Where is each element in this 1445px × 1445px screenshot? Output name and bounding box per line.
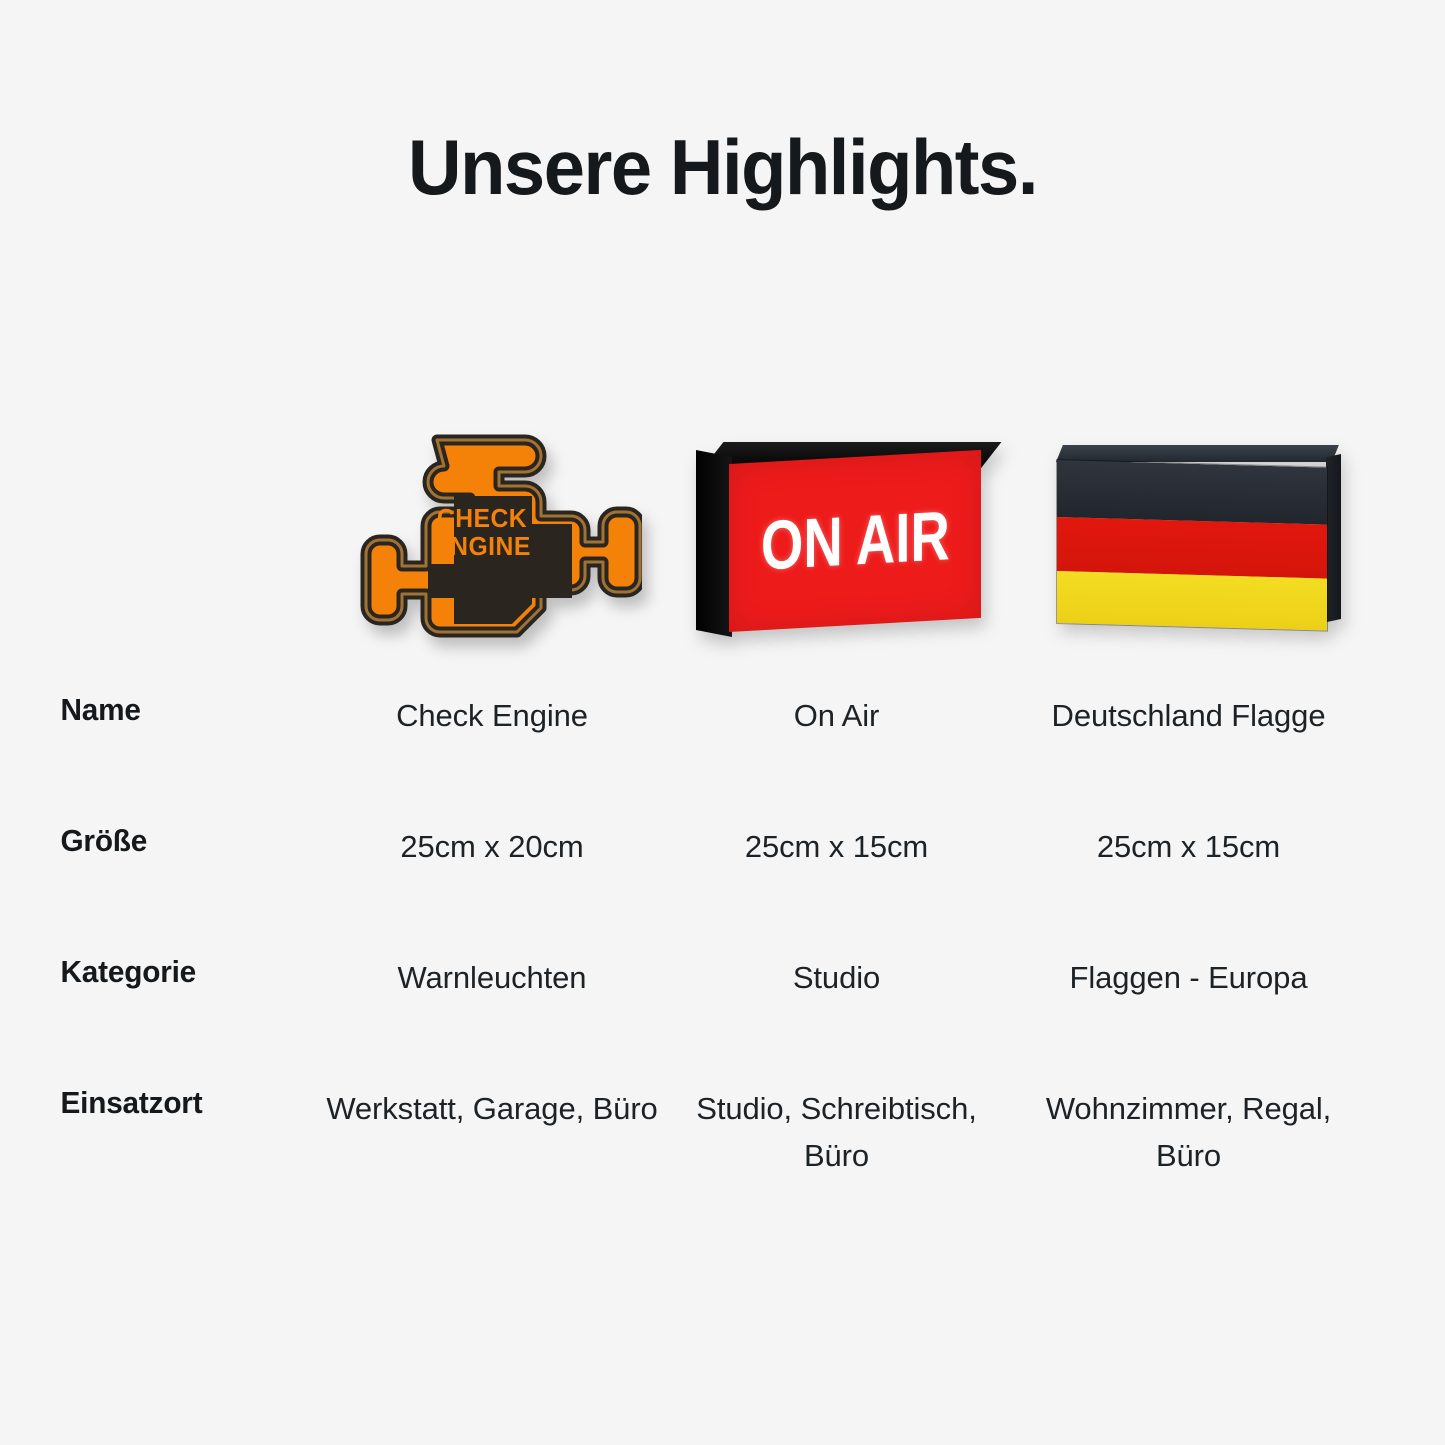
check-engine-lamp-graphic: CHECK ENGINE	[342, 430, 642, 645]
check-engine-label-line1: CHECK	[412, 504, 553, 532]
on-air-text: ON AIR	[761, 496, 950, 586]
row-label-einsatzort: Einsatzort	[0, 1085, 309, 1121]
row-label-kategorie: Kategorie	[0, 954, 309, 990]
cell-einsatzort-on-air: Studio, Schreibtisch, Büro	[662, 1085, 1011, 1179]
cell-kategorie-on-air: Studio	[662, 954, 1011, 1002]
cell-kategorie-check-engine: Warnleuchten	[322, 954, 662, 1002]
highlights-page: Unsere Highlights. CHECK ENGINE	[0, 0, 1445, 1445]
cell-name-on-air: On Air	[662, 692, 1011, 740]
flag-box-side-face	[1326, 454, 1341, 622]
product-image-row: CHECK ENGINE ON AIR	[0, 412, 1445, 662]
on-air-box-front-face: ON AIR	[729, 450, 981, 632]
row-label-groesse: Größe	[0, 823, 309, 859]
flag-box-front-face	[1056, 459, 1328, 632]
cell-groesse-deutschland-flagge: 25cm x 15cm	[1011, 823, 1366, 871]
cell-einsatzort-deutschland-flagge: Wohnzimmer, Regal, Büro	[1011, 1085, 1366, 1179]
on-air-lightbox-graphic: ON AIR	[696, 442, 986, 632]
table-row-groesse: Größe 25cm x 20cm 25cm x 15cm 25cm x 15c…	[0, 823, 1445, 954]
german-flag-lightbox-graphic	[1051, 445, 1341, 630]
flag-box-top-face	[1056, 445, 1339, 462]
cell-kategorie-deutschland-flagge: Flaggen - Europa	[1011, 954, 1366, 1002]
check-engine-label-line2: ENGINE	[412, 532, 553, 560]
flag-band-red	[1057, 517, 1327, 578]
table-row-kategorie: Kategorie Warnleuchten Studio Flaggen - …	[0, 954, 1445, 1085]
spec-comparison-table: Name Check Engine On Air Deutschland Fla…	[0, 692, 1445, 1216]
cell-groesse-check-engine: 25cm x 20cm	[322, 823, 662, 871]
product-image-on-air[interactable]: ON AIR	[671, 412, 1011, 662]
product-image-deutschland-flagge[interactable]	[1026, 412, 1366, 662]
cell-name-deutschland-flagge: Deutschland Flagge	[1011, 692, 1366, 740]
table-row-name: Name Check Engine On Air Deutschland Fla…	[0, 692, 1445, 823]
flag-band-yellow	[1057, 570, 1327, 630]
page-title: Unsere Highlights.	[36, 128, 1409, 206]
table-row-einsatzort: Einsatzort Werkstatt, Garage, Büro Studi…	[0, 1085, 1445, 1216]
flag-band-black	[1057, 460, 1327, 525]
row-label-name: Name	[0, 692, 309, 728]
cell-name-check-engine: Check Engine	[322, 692, 662, 740]
check-engine-label: CHECK ENGINE	[412, 504, 553, 560]
on-air-box-side-face	[696, 450, 732, 637]
cell-einsatzort-check-engine: Werkstatt, Garage, Büro	[322, 1085, 662, 1132]
cell-groesse-on-air: 25cm x 15cm	[662, 823, 1011, 871]
product-image-check-engine[interactable]: CHECK ENGINE	[322, 412, 662, 662]
